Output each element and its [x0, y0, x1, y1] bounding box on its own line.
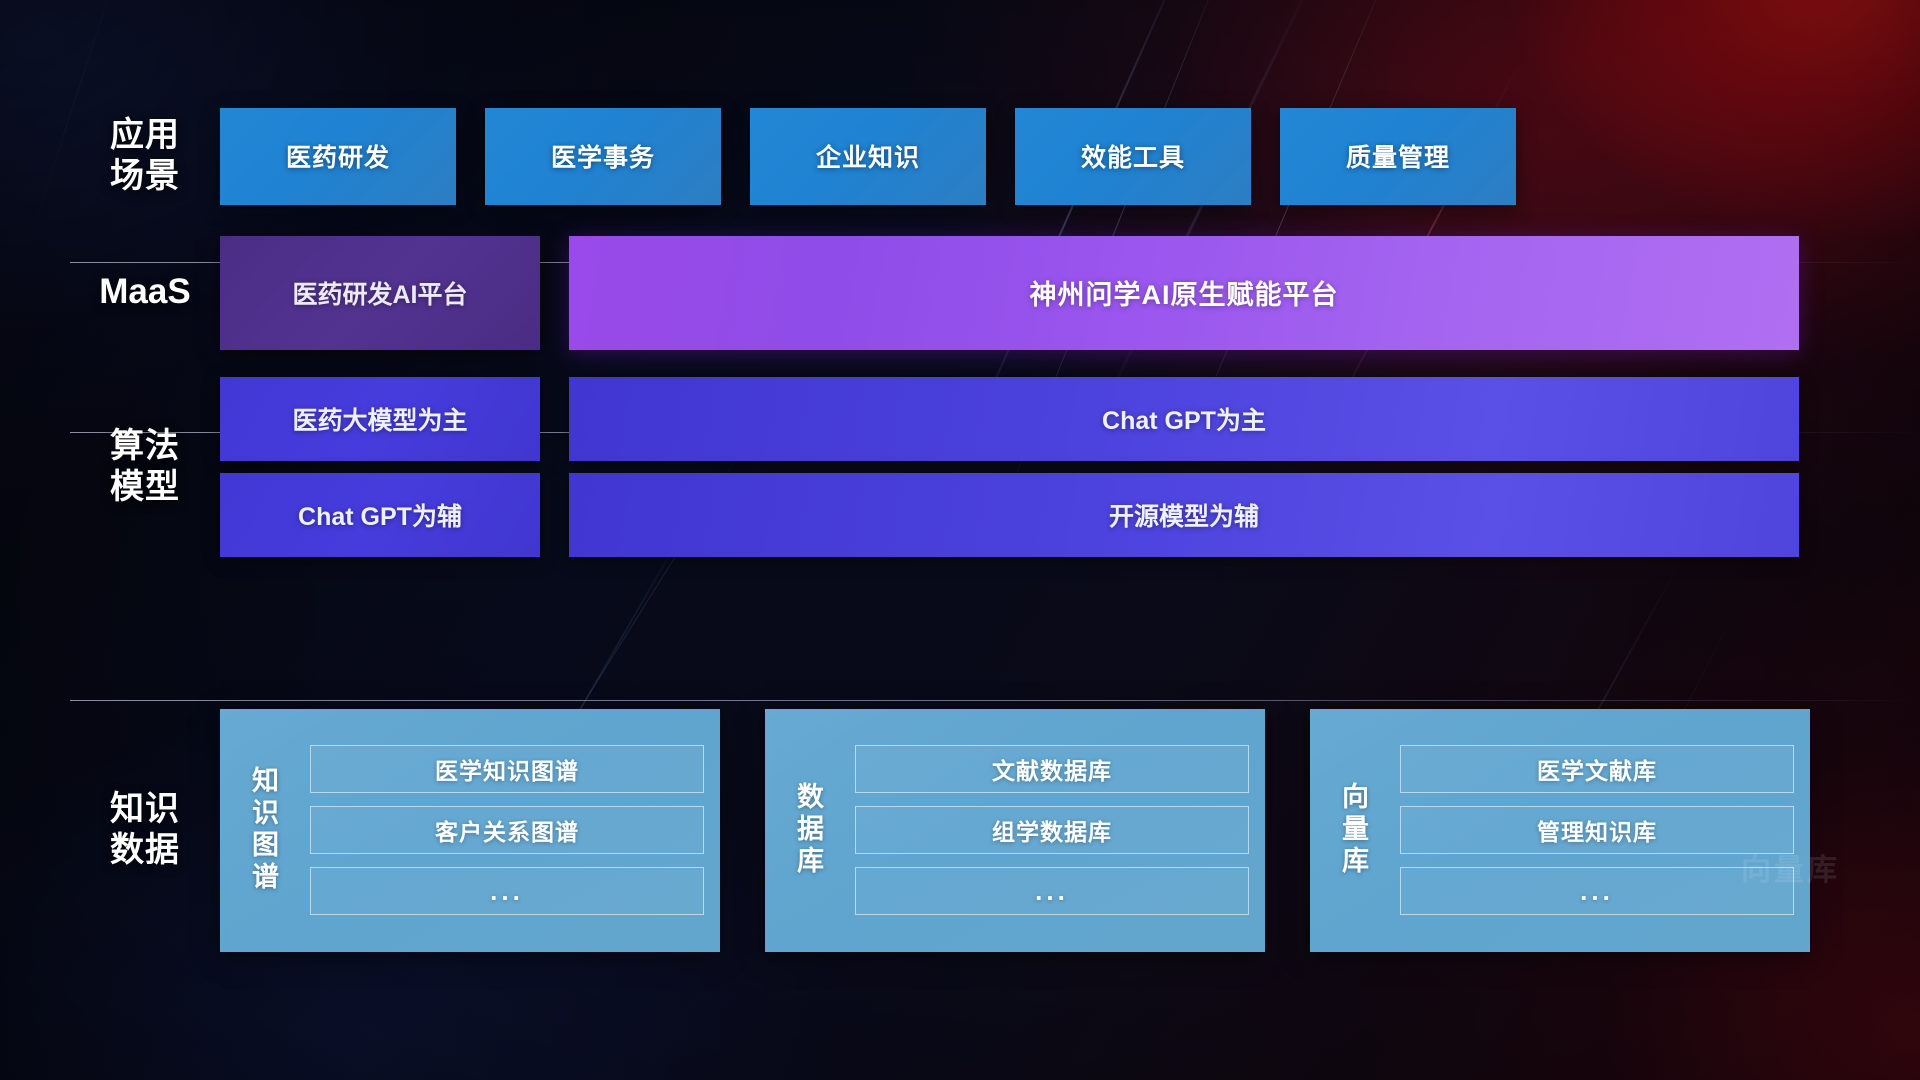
row-label-algorithm-models: 算法 模型 — [70, 426, 220, 509]
knowledge-items-database: 文献数据库 组学数据库 ... — [843, 745, 1249, 915]
knowledge-panel-knowledge-graph: 知 识 图 谱 医学知识图谱 客户关系图谱 ... — [220, 709, 720, 952]
row-algorithm-models: 算法 模型 医药大模型为主 Chat GPT为主 Chat GPT为辅 开源模型… — [70, 372, 1920, 562]
knowledge-item-omics-db[interactable]: 组学数据库 — [855, 806, 1249, 854]
row-knowledge-data: 知识 数据 知 识 图 谱 医学知识图谱 客户关系图谱 ... 数 据 库 文献… — [70, 705, 1920, 955]
knowledge-item-medical-literature-store[interactable]: 医学文献库 — [1400, 745, 1794, 793]
knowledge-items-knowledge-graph: 医学知识图谱 客户关系图谱 ... — [298, 745, 704, 915]
knowledge-panel-label-vector-store: 向 量 库 — [1324, 782, 1388, 878]
algorithm-cards-container: 医药大模型为主 Chat GPT为主 Chat GPT为辅 开源模型为辅 — [220, 377, 1920, 557]
knowledge-item-more-db[interactable]: ... — [855, 867, 1249, 915]
knowledge-item-more-kg[interactable]: ... — [310, 867, 704, 915]
row-label-maas: MaaS — [70, 271, 220, 314]
app-card-quality-management[interactable]: 质量管理 — [1280, 108, 1516, 205]
application-cards-container: 医药研发 医学事务 企业知识 效能工具 质量管理 — [220, 108, 1920, 205]
algorithm-line-secondary: Chat GPT为辅 开源模型为辅 — [220, 473, 1799, 557]
knowledge-item-more-vector[interactable]: ... — [1400, 867, 1794, 915]
knowledge-item-management-knowledge-store[interactable]: 管理知识库 — [1400, 806, 1794, 854]
app-card-drug-rd[interactable]: 医药研发 — [220, 108, 456, 205]
algorithm-line-primary: 医药大模型为主 Chat GPT为主 — [220, 377, 1799, 461]
knowledge-panel-database: 数 据 库 文献数据库 组学数据库 ... — [765, 709, 1265, 952]
knowledge-item-crm-kg[interactable]: 客户关系图谱 — [310, 806, 704, 854]
row-application-scenarios: 应用 场景 医药研发 医学事务 企业知识 效能工具 质量管理 — [70, 96, 1920, 216]
row-label-knowledge-data: 知识 数据 — [70, 789, 220, 872]
knowledge-panel-label-knowledge-graph: 知 识 图 谱 — [234, 766, 298, 893]
knowledge-panels-container: 知 识 图 谱 医学知识图谱 客户关系图谱 ... 数 据 库 文献数据库 组学… — [220, 709, 1920, 952]
knowledge-item-medical-kg[interactable]: 医学知识图谱 — [310, 745, 704, 793]
maas-card-drug-rd-ai-platform[interactable]: 医药研发AI平台 — [220, 236, 540, 350]
app-card-medical-affairs[interactable]: 医学事务 — [485, 108, 721, 205]
algo-card-pharma-llm-primary[interactable]: 医药大模型为主 — [220, 377, 540, 461]
algo-card-chatgpt-secondary[interactable]: Chat GPT为辅 — [220, 473, 540, 557]
maas-cards-container: 医药研发AI平台 神州问学AI原生赋能平台 — [220, 236, 1920, 350]
knowledge-items-vector-store: 医学文献库 管理知识库 ... — [1388, 745, 1794, 915]
architecture-diagram: 应用 场景 医药研发 医学事务 企业知识 效能工具 质量管理 MaaS 医药研发… — [0, 0, 1920, 1080]
app-card-efficiency-tools[interactable]: 效能工具 — [1015, 108, 1251, 205]
algo-card-chatgpt-primary[interactable]: Chat GPT为主 — [569, 377, 1799, 461]
app-card-enterprise-knowledge[interactable]: 企业知识 — [750, 108, 986, 205]
algo-card-opensource-secondary[interactable]: 开源模型为辅 — [569, 473, 1799, 557]
knowledge-item-literature-db[interactable]: 文献数据库 — [855, 745, 1249, 793]
divider-algorithm-knowledge — [70, 700, 1920, 701]
row-label-application-scenarios: 应用 场景 — [70, 115, 220, 198]
row-maas: MaaS 医药研发AI平台 神州问学AI原生赋能平台 — [70, 235, 1920, 350]
knowledge-panel-label-database: 数 据 库 — [779, 782, 843, 878]
knowledge-panel-vector-store: 向量库 向 量 库 医学文献库 管理知识库 ... — [1310, 709, 1810, 952]
maas-card-shenzhou-wenxue-platform[interactable]: 神州问学AI原生赋能平台 — [569, 236, 1799, 350]
